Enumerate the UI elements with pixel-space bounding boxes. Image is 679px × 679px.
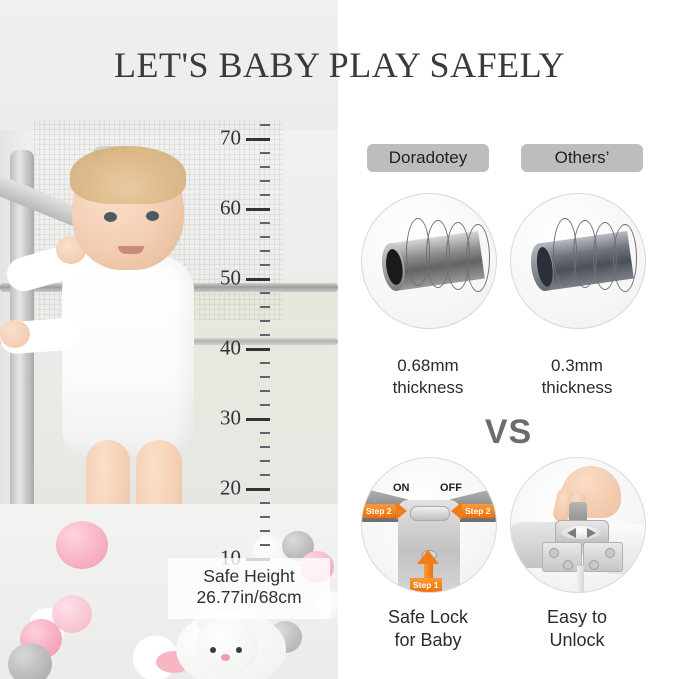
safe-lock-caption-line2: for Baby xyxy=(353,629,503,652)
plush-toy-head xyxy=(196,619,258,675)
ruler-tick-minor xyxy=(260,432,270,434)
ruler-tick-minor xyxy=(260,334,270,336)
safe-lock-caption: Safe Lock for Baby xyxy=(353,606,503,653)
step1-arrow-head xyxy=(417,550,439,564)
hinge-dot-3 xyxy=(589,560,599,570)
ruler-tick-minor xyxy=(260,516,270,518)
brand-chip-doradotey: Doradotey xyxy=(367,144,489,172)
ruler-tick-major xyxy=(246,138,270,141)
ruler-tick-minor xyxy=(260,530,270,532)
plush-eye-left xyxy=(210,647,216,653)
ruler-tick-minor xyxy=(260,236,270,238)
height-ruler: 70605040302010 xyxy=(212,124,270,572)
thickness-label-others: 0.3mm thickness xyxy=(507,355,647,399)
ruler-tick-minor xyxy=(260,474,270,476)
baby-eye-left xyxy=(104,212,117,222)
ruler-number: 50 xyxy=(220,268,241,289)
lock-off-label: OFF xyxy=(440,482,462,494)
ruler-tick-major xyxy=(246,418,270,421)
brand-chip-others: Others’ xyxy=(521,144,643,172)
hinge-dot-1 xyxy=(549,548,559,558)
tube-closeup-doradotey xyxy=(361,193,497,329)
lock-slider-knob xyxy=(410,506,450,521)
hinge-plate-left xyxy=(542,542,582,572)
step2-left-arrow-head xyxy=(396,502,407,520)
easy-unlock-closeup xyxy=(510,457,646,593)
ruler-tick-minor xyxy=(260,446,270,448)
safe-height-value: 26.77in/68cm xyxy=(174,587,324,608)
step2-right-arrow-head xyxy=(451,502,462,520)
step1-badge: Step 1 xyxy=(410,578,442,592)
baby-mouth xyxy=(118,246,144,254)
ruler-number: 60 xyxy=(220,198,241,219)
brand-chip-doradotey-label: Doradotey xyxy=(389,148,467,168)
ruler-tick-minor xyxy=(260,376,270,378)
vs-label: VS xyxy=(338,413,679,452)
brand-chip-others-label: Others’ xyxy=(555,148,610,168)
ruler-tick-minor xyxy=(260,250,270,252)
ruler-tick-minor xyxy=(260,222,270,224)
ruler-tick-minor xyxy=(260,166,270,168)
latch-arrow-left-icon xyxy=(567,528,576,538)
easy-unlock-caption-line1: Easy to xyxy=(502,606,652,629)
ruler-tick-minor xyxy=(260,264,270,266)
ruler-tick-minor xyxy=(260,180,270,182)
ruler-number: 40 xyxy=(220,338,241,359)
ruler-tick-major xyxy=(246,488,270,491)
ruler-number: 20 xyxy=(220,478,241,499)
ball-gray-1 xyxy=(8,643,52,679)
thickness-value-others: 0.3mm xyxy=(507,355,647,377)
plush-nose xyxy=(221,654,230,661)
comparison-panel: Doradotey Others’ xyxy=(338,0,679,679)
ruler-tick-major xyxy=(246,278,270,281)
ruler-tick-minor xyxy=(260,390,270,392)
thickness-word-others: thickness xyxy=(507,377,647,399)
ruler-number: 70 xyxy=(220,128,241,149)
infographic-page: 70605040302010 Safe Height 26.77in/68cm … xyxy=(0,0,679,679)
baby-torso xyxy=(62,256,194,456)
lock-on-label: ON xyxy=(393,482,410,494)
ruler-number: 30 xyxy=(220,408,241,429)
ruler-tick-minor xyxy=(260,306,270,308)
ruler-tick-major xyxy=(246,348,270,351)
ruler-tick-major xyxy=(246,208,270,211)
hinge-dot-2 xyxy=(563,560,573,570)
step2-left-label: Step 2 xyxy=(366,504,392,518)
hinge-dot-4 xyxy=(605,548,615,558)
baby-hand-lower xyxy=(0,320,30,348)
ruler-tick-minor xyxy=(260,124,270,126)
baby-eye-right xyxy=(146,211,159,221)
ruler-tick-minor xyxy=(260,320,270,322)
safe-lock-caption-line1: Safe Lock xyxy=(353,606,503,629)
ruler-tick-minor xyxy=(260,544,270,546)
baby-hair xyxy=(70,146,186,204)
ruler-tick-minor xyxy=(260,502,270,504)
plush-eye-right xyxy=(236,647,242,653)
thickness-word-doradotey: thickness xyxy=(358,377,498,399)
step1-label: Step 1 xyxy=(413,578,439,592)
coil-wire-8 xyxy=(613,224,637,292)
ruler-tick-minor xyxy=(260,460,270,462)
ruler-tick-minor xyxy=(260,194,270,196)
page-title: LET'S BABY PLAY SAFELY xyxy=(0,44,679,86)
coil-wire-4 xyxy=(466,224,490,292)
ruler-tick-minor xyxy=(260,292,270,294)
thickness-value-doradotey: 0.68mm xyxy=(358,355,498,377)
easy-unlock-caption: Easy to Unlock xyxy=(502,606,652,653)
step2-left-badge: Step 2 xyxy=(363,504,395,518)
ruler-tick-minor xyxy=(260,404,270,406)
ball-pink-1 xyxy=(56,521,108,569)
safe-height-title: Safe Height xyxy=(174,566,324,587)
latch-arrow-right-icon xyxy=(587,528,596,538)
tube-closeup-others xyxy=(510,193,646,329)
ruler-tick-minor xyxy=(260,152,270,154)
ruler-tick-minor xyxy=(260,362,270,364)
safe-height-callout: Safe Height 26.77in/68cm xyxy=(168,558,330,619)
step2-right-badge: Step 2 xyxy=(462,504,494,518)
easy-unlock-caption-line2: Unlock xyxy=(502,629,652,652)
thickness-label-doradotey: 0.68mm thickness xyxy=(358,355,498,399)
baby-playpen-photo: 70605040302010 Safe Height 26.77in/68cm xyxy=(0,0,338,679)
safe-lock-closeup: ON OFF Step 2 Step 2 Step 1 xyxy=(361,457,497,593)
unlock-center-post xyxy=(577,566,584,593)
step2-right-label: Step 2 xyxy=(465,504,491,518)
